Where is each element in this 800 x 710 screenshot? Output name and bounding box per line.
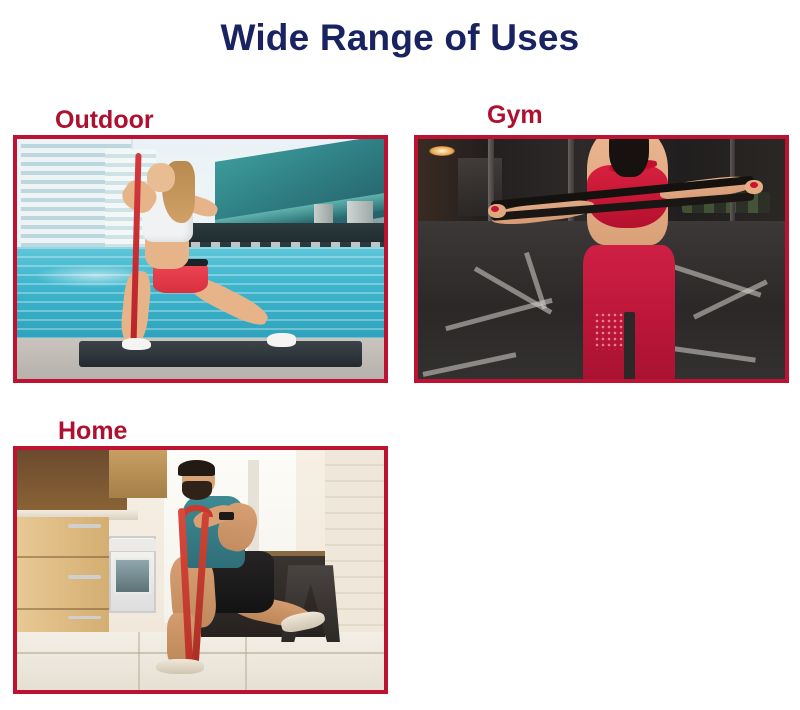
- cabinet-seam: [17, 608, 109, 610]
- figure-head: [147, 163, 175, 192]
- home-photo: [17, 450, 384, 690]
- gym-photo: [418, 139, 785, 379]
- figure-right-shoe: [267, 333, 296, 346]
- figure-front-shoe: [156, 659, 204, 675]
- upper-cabinet-2: [109, 450, 168, 498]
- oven-control-panel: [109, 539, 157, 552]
- wrist-watch: [219, 512, 234, 519]
- ceiling-lamp: [429, 146, 455, 156]
- tile-grout-line: [245, 632, 247, 690]
- image-panel-gym: [414, 135, 789, 383]
- panel-label-gym: Gym: [487, 103, 543, 128]
- cabinet-handle: [68, 575, 101, 579]
- outdoor-photo: [17, 139, 384, 379]
- image-panel-home: [13, 446, 388, 694]
- image-panel-outdoor: [13, 135, 388, 383]
- cabinet-handle: [68, 616, 101, 620]
- tile-grout-line: [17, 652, 384, 654]
- panel-label-outdoor: Outdoor: [55, 108, 154, 133]
- panel-label-home: Home: [58, 419, 127, 444]
- cabinet-handle: [68, 524, 101, 528]
- leggings-perforation: [594, 312, 623, 350]
- page-title: Wide Range of Uses: [0, 18, 800, 59]
- cabinet-seam: [17, 556, 109, 558]
- figure-left-shoe: [122, 338, 151, 350]
- leggings-leg-gap: [624, 312, 635, 379]
- figure-hair: [178, 460, 215, 477]
- tile-grout-line: [138, 632, 140, 690]
- oven-door-window: [114, 558, 151, 594]
